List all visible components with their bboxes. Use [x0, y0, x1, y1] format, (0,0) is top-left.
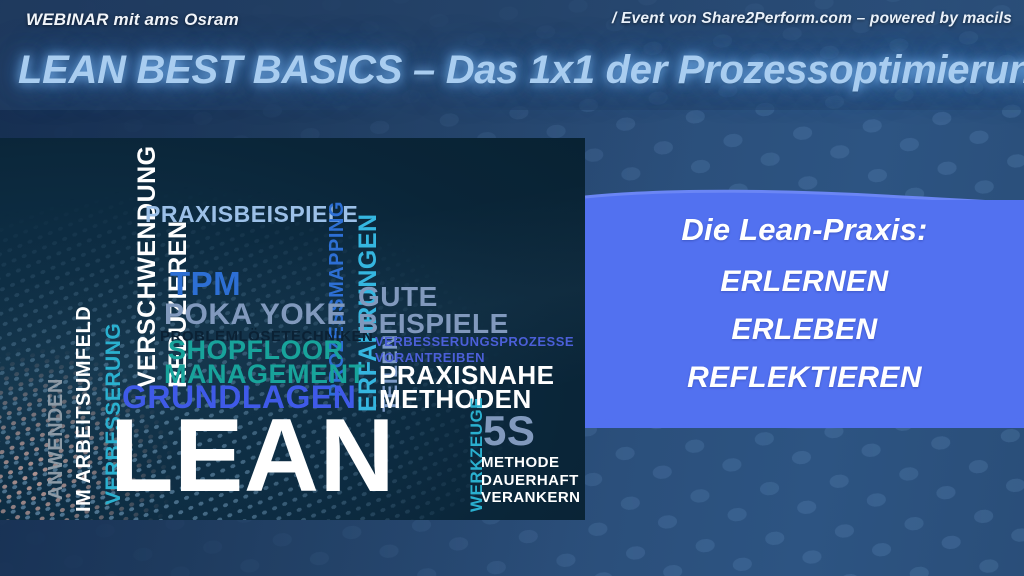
header-band: WEBINAR mit ams Osram / Event von Share2… [0, 0, 1024, 110]
header-kicker-left: WEBINAR mit ams Osram [26, 10, 239, 30]
word-poka-yoke: POKA YOKE [164, 300, 347, 330]
word-gute: GUTE [358, 283, 438, 311]
right-panel: Die Lean-Praxis: ERLERNEN ERLEBEN REFLEK… [585, 178, 1024, 450]
word-anwenden: ANWENDEN [46, 378, 66, 500]
panel-text-block: Die Lean-Praxis: ERLERNEN ERLEBEN REFLEK… [585, 200, 1024, 428]
word-verschwendung: VERSCHWENDUNG [135, 145, 160, 388]
word-dauerhaft: DAUERHAFT [481, 473, 579, 488]
panel-line-erlernen: ERLERNEN [720, 265, 888, 299]
panel-line-erleben: ERLEBEN [731, 313, 877, 347]
panel-line-heading: Die Lean-Praxis: [681, 212, 927, 248]
word-cloud-image: ANWENDENIM ARBEITSUMFELDVERBESSERUNGVERS… [0, 138, 585, 520]
word-verankern: VERANKERN [481, 490, 581, 505]
slide-canvas: WEBINAR mit ams Osram / Event von Share2… [0, 0, 1024, 576]
word-im-arbeitsumfeld: IM ARBEITSUMFELD [74, 306, 94, 512]
word-verbesserungsprozesse: VERBESSERUNGSPROZESSE [375, 335, 574, 348]
word-tpm: TPM [170, 267, 241, 300]
word-methode: METHODE [481, 455, 560, 470]
header-kicker-right: / Event von Share2Perform.com – powered … [612, 10, 1012, 28]
page-title: LEAN BEST BASICS – Das 1x1 der Prozessop… [18, 48, 1024, 92]
word-5s: 5S [483, 410, 535, 452]
panel-line-reflektieren: REFLEKTIEREN [687, 361, 922, 395]
word-lean: LEAN [110, 404, 395, 508]
